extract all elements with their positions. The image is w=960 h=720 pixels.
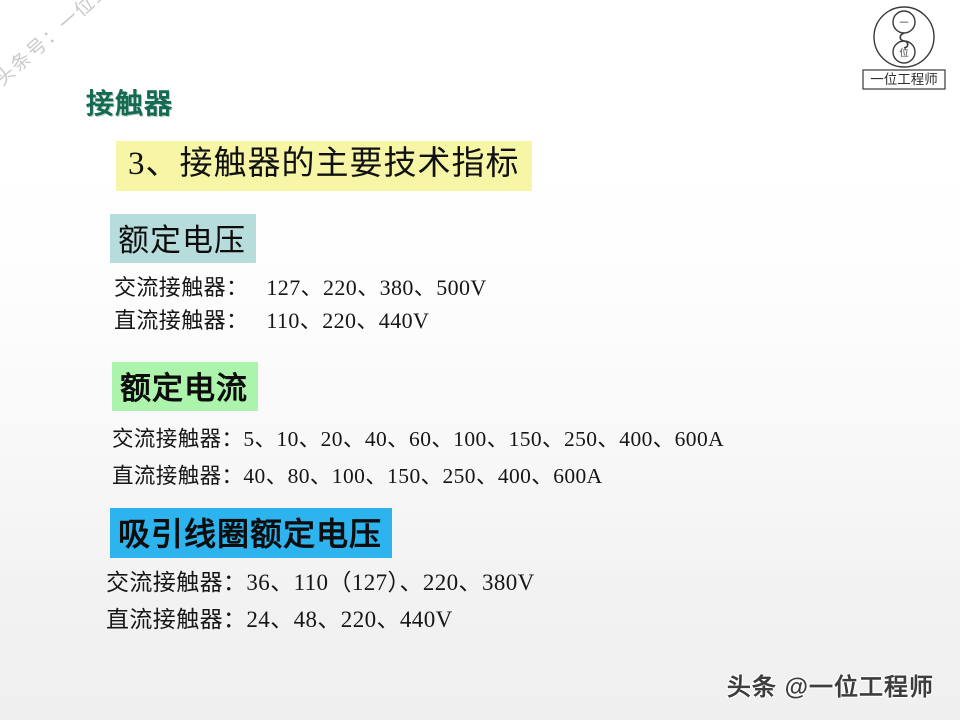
section-rated-voltage-rows: 交流接触器：127、220、380、500V 直流接触器：110、220、440…: [114, 271, 487, 338]
logo-mark-top-char: 一: [899, 18, 909, 29]
section-coil-rated-voltage-rows: 交流接触器：36、110（127）、220、380V 直流接触器：24、48、2…: [106, 564, 535, 639]
table-row: 交流接触器：36、110（127）、220、380V: [106, 564, 535, 601]
row-label: 交流接触器：: [106, 570, 246, 595]
section-rated-current-rows: 交流接触器：5、10、20、40、60、100、150、250、400、600A…: [112, 421, 724, 495]
slide-canvas: 头条号：一位工程师 一 位 一位工程师 接触器 3、接触器的主要技术指标 额定电…: [0, 0, 960, 720]
row-values: 40、80、100、150、250、400、600A: [243, 464, 602, 488]
row-values: 127、220、380、500V: [248, 275, 486, 300]
main-heading: 3、接触器的主要技术指标: [116, 141, 532, 191]
table-row: 直流接触器：24、48、220、440V: [106, 601, 535, 638]
row-values: 36、110（127）、220、380V: [246, 570, 534, 595]
section-rated-current-label: 额定电流: [112, 362, 258, 411]
table-row: 交流接触器：127、220、380、500V: [114, 271, 487, 304]
section-rated-voltage-label: 额定电压: [110, 214, 256, 263]
table-row: 交流接触器：5、10、20、40、60、100、150、250、400、600A: [112, 421, 724, 458]
row-label: 直流接触器：: [114, 308, 248, 333]
bottom-right-watermark: 头条 @一位工程师: [727, 667, 934, 702]
logo-caption: 一位工程师: [870, 72, 938, 87]
section-coil-rated-voltage-label: 吸引线圈额定电压: [110, 508, 392, 558]
table-row: 直流接触器：110、220、440V: [114, 304, 487, 337]
row-label: 直流接触器：: [112, 464, 243, 488]
page-title: 接触器: [86, 82, 173, 122]
row-values: 24、48、220、440V: [246, 607, 452, 632]
row-label: 直流接触器：: [106, 607, 246, 632]
row-label: 交流接触器：: [114, 275, 248, 300]
brand-logo: 一 位 一位工程师: [856, 4, 952, 90]
diagonal-watermark: 头条号：一位工程师: [0, 0, 149, 91]
table-row: 直流接触器：40、80、100、150、250、400、600A: [112, 458, 724, 495]
section-coil-rated-voltage: 吸引线圈额定电压 交流接触器：36、110（127）、220、380V 直流接触…: [110, 508, 535, 639]
section-rated-current: 额定电流 交流接触器：5、10、20、40、60、100、150、250、400…: [112, 362, 724, 495]
logo-mark-bottom-char: 位: [899, 47, 909, 59]
row-values: 110、220、440V: [248, 308, 429, 333]
section-rated-voltage: 额定电压 交流接触器：127、220、380、500V 直流接触器：110、22…: [110, 214, 487, 338]
row-values: 5、10、20、40、60、100、150、250、400、600A: [243, 427, 724, 451]
row-label: 交流接触器：: [112, 427, 243, 451]
